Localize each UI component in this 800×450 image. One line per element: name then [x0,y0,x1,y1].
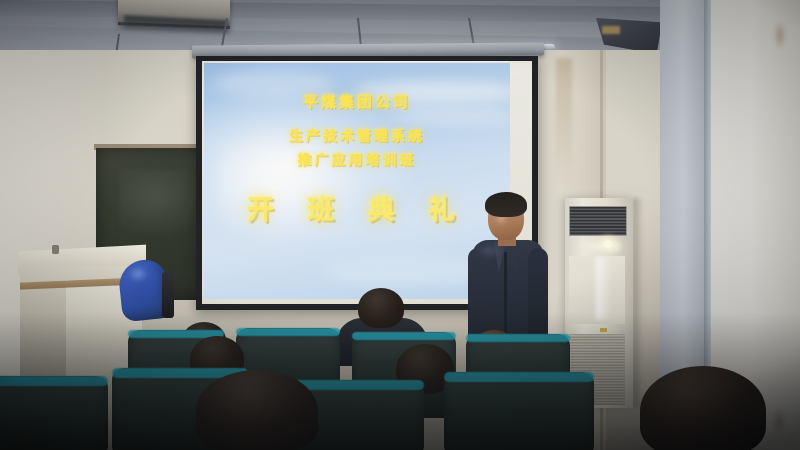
audience-head [358,288,404,328]
projected-slide: 平煤集团公司 生产技术管理系统 推广应用培训班 开 班 典 礼 [204,63,510,299]
air-conditioner-shadow [633,198,643,408]
wall-bracket-highlight [602,26,620,34]
presenter-arm-right [528,248,548,348]
equipment-stand [162,272,174,318]
air-conditioner-intake-grille [569,206,627,236]
lectern-knob [52,245,59,254]
wall-mark [772,408,786,434]
chair-trim [236,328,340,336]
audience-head-foreground [640,366,766,450]
chair-trim [444,372,594,382]
auditorium-chair [444,372,594,450]
audience-head-foreground [196,370,318,450]
air-conditioner-label [600,328,607,332]
standing-presenter [466,196,552,356]
wall-mark [774,20,786,50]
air-conditioner-led-icon [604,240,612,248]
slide-line-company: 平煤集团公司 [303,91,411,112]
slide-main-title: 开 班 典 礼 [247,188,467,227]
presenter-hair [485,192,527,217]
blue-cover-highlight [127,265,149,283]
pilaster-stain [556,58,572,188]
presenter-shoulder-highlight [476,244,502,258]
chair-trim [352,332,456,340]
air-conditioner-panel-shine [575,238,621,254]
slide-text-block: 平煤集团公司 生产技术管理系统 推广应用培训班 开 班 典 礼 [204,63,510,299]
chair-trim [466,334,570,342]
photo-scene: 平煤集团公司 生产技术管理系统 推广应用培训班 开 班 典 礼 [0,0,800,450]
chair-trim [0,376,108,386]
slide-line-course: 推广应用培训班 [298,150,417,170]
auditorium-chair [0,376,108,450]
presenter-jacket-placket [504,252,507,344]
slide-line-system: 生产技术管理系统 [289,126,425,146]
air-conditioner-gloss [596,256,612,320]
